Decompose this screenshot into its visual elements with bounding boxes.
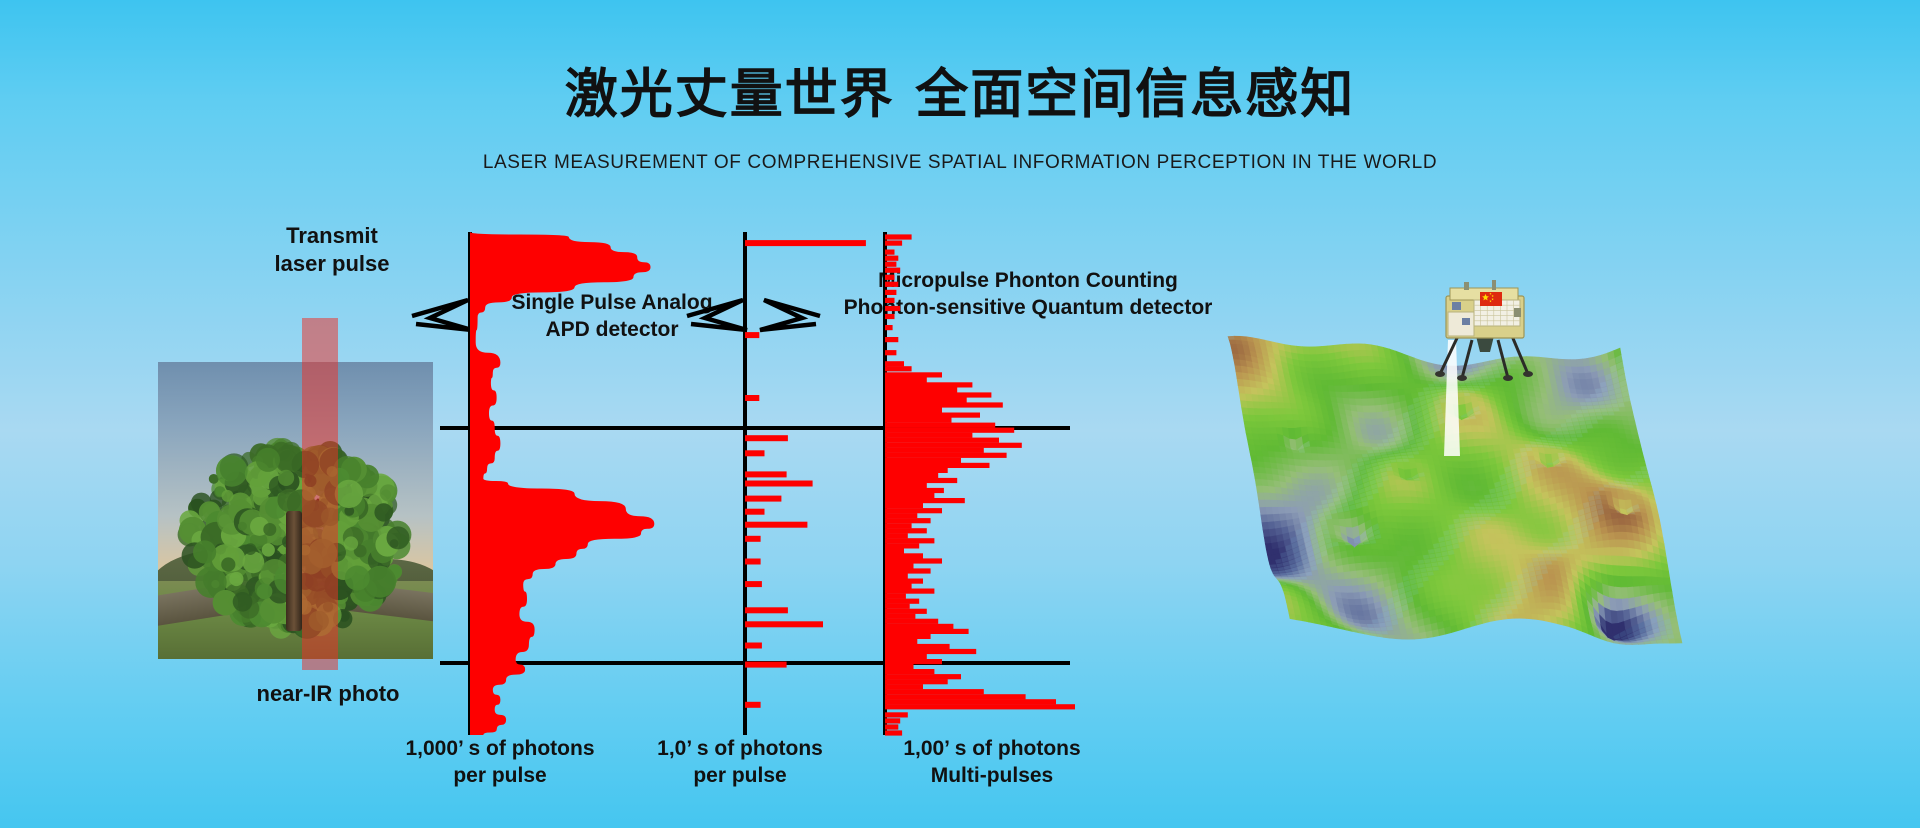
histogram-bar xyxy=(885,664,914,669)
histogram-bar xyxy=(885,387,957,392)
caption-2-line2: per pulse xyxy=(625,762,855,789)
histogram-bar xyxy=(885,614,915,619)
histogram-bar xyxy=(885,649,976,654)
histogram-bar xyxy=(885,518,931,523)
histogram-bar xyxy=(885,513,917,518)
photo-tree-trunk xyxy=(286,511,302,631)
histogram-bar xyxy=(885,361,904,366)
histogram-bar xyxy=(885,402,1003,407)
reference-line-ground xyxy=(440,661,1070,665)
lander-leg xyxy=(1512,336,1528,374)
histogram-bar xyxy=(885,543,919,548)
histogram-bar xyxy=(885,568,931,573)
lander-foot xyxy=(1523,371,1533,377)
histogram-bar xyxy=(745,522,807,528)
lander-instrument xyxy=(1514,308,1521,317)
histogram-bar xyxy=(885,468,948,473)
terrain-cell xyxy=(1638,457,1645,462)
histogram-bar xyxy=(885,397,967,402)
histogram-bar xyxy=(885,679,948,684)
histogram-bar xyxy=(885,350,896,355)
terrain-cell xyxy=(1636,453,1643,458)
histogram-bar xyxy=(885,463,990,468)
terrain-cell xyxy=(1665,585,1672,592)
histogram-bar xyxy=(885,639,917,644)
histogram-bar xyxy=(885,413,980,418)
histogram-bar xyxy=(745,481,813,487)
histogram-bar xyxy=(885,629,969,634)
histogram-bar xyxy=(745,395,759,401)
histogram-bar xyxy=(885,262,896,267)
histogram-bar xyxy=(885,619,938,624)
lander-foot xyxy=(1457,375,1467,381)
panel-3-title: Micropulse Phonton Counting Phonton-sens… xyxy=(818,268,1238,322)
page-subtitle: LASER MEASUREMENT OF COMPREHENSIVE SPATI… xyxy=(0,152,1920,174)
terrain-cell xyxy=(1627,416,1634,421)
histogram-bar xyxy=(885,674,961,679)
histogram-bar xyxy=(745,496,781,502)
terrain-cell xyxy=(1628,420,1635,425)
poster-stage: 激光丈量世界 全面空间信息感知 LASER MEASUREMENT OF COM… xyxy=(0,0,1920,828)
histogram-bar xyxy=(885,498,965,503)
histogram-bar xyxy=(885,548,904,553)
histogram-bar xyxy=(745,607,788,613)
histogram-bar xyxy=(885,337,898,342)
lander-leg xyxy=(1462,340,1472,378)
histogram-bar xyxy=(885,654,927,659)
reference-line-canopy-top xyxy=(440,426,1070,430)
lander-antenna xyxy=(1464,282,1469,290)
histogram-bar xyxy=(885,594,906,599)
terrain-cell xyxy=(1634,444,1641,449)
caption-3-line1: 1,00’ s of photons xyxy=(872,735,1112,762)
histogram-bar xyxy=(885,458,961,463)
caption-1: 1,000’ s of photons per pulse xyxy=(340,735,660,790)
histogram-bar xyxy=(885,478,957,483)
histogram-bar xyxy=(885,408,942,413)
histogram-bar xyxy=(885,538,934,543)
histogram-bar xyxy=(885,256,898,261)
histogram-bar xyxy=(745,450,765,456)
histogram-bar xyxy=(885,624,953,629)
histogram-bar xyxy=(885,609,927,614)
histogram-bar xyxy=(885,604,910,609)
histogram-bar xyxy=(885,553,923,558)
histogram-bar xyxy=(745,536,761,542)
histogram-bar xyxy=(885,234,912,239)
terrain-cell xyxy=(1644,483,1651,487)
lander-foot xyxy=(1503,375,1513,381)
laser-beam-overlay xyxy=(302,318,338,670)
caption-2: 1,0’ s of photons per pulse xyxy=(625,735,855,790)
lander-leg xyxy=(1440,336,1458,374)
histogram-bar xyxy=(885,533,908,538)
histogram-bar xyxy=(885,382,972,387)
terrain-cell xyxy=(1666,591,1673,599)
caption-1-line2: per pulse xyxy=(340,762,660,789)
histogram-bar xyxy=(745,702,761,708)
histogram-bar xyxy=(885,508,942,513)
transmit-label-line2: laser pulse xyxy=(232,250,432,278)
histogram-bar xyxy=(885,528,927,533)
histogram-bar xyxy=(885,488,944,493)
histogram-bar xyxy=(885,428,1014,433)
histogram-bar xyxy=(885,443,1022,448)
histogram-bar xyxy=(885,694,1026,699)
histogram-bar xyxy=(885,377,927,382)
histogram-bar xyxy=(885,699,1056,704)
histogram-bar xyxy=(745,643,762,649)
lander-instrument xyxy=(1462,318,1470,325)
terrain-cell xyxy=(1626,411,1633,416)
histogram-bar xyxy=(885,241,902,246)
terrain-cell xyxy=(1663,577,1670,584)
near-ir-photo-label: near-IR photo xyxy=(218,680,438,708)
histogram-bar xyxy=(885,579,923,584)
histogram-bar xyxy=(885,503,923,508)
terrain-cell xyxy=(1642,474,1649,478)
histogram-bar xyxy=(885,418,952,423)
transmit-label-line1: Transmit xyxy=(232,222,432,250)
transmit-laser-pulse-label: Transmit laser pulse xyxy=(232,222,432,278)
histogram-bar xyxy=(885,473,938,478)
terrain-cell xyxy=(1643,479,1650,483)
histogram-bar xyxy=(745,240,866,246)
terrain-cell xyxy=(1639,462,1646,467)
lander-antenna xyxy=(1492,280,1496,290)
histogram-bar xyxy=(885,718,900,723)
terrain-cell xyxy=(1635,448,1642,453)
histogram-bar xyxy=(745,559,761,565)
histogram-bar xyxy=(885,574,908,579)
histogram-bar xyxy=(885,433,972,438)
histogram-bar xyxy=(885,704,1075,709)
histogram-bar xyxy=(745,509,765,515)
histogram-bar xyxy=(745,662,787,668)
lunar-lander-model xyxy=(1428,278,1540,388)
histogram-bar xyxy=(885,599,919,604)
terrain-cell xyxy=(1667,598,1674,606)
histogram-bar xyxy=(885,325,893,330)
histogram-bar xyxy=(745,435,788,441)
histogram-bar xyxy=(885,589,934,594)
histogram-bar xyxy=(885,453,1007,458)
panel-1-title-line1: Single Pulse Analog xyxy=(462,290,762,317)
panel-1-title: Single Pulse Analog APD detector xyxy=(462,290,762,344)
axis-break-symbol xyxy=(760,300,820,330)
histogram-bar xyxy=(885,724,898,729)
histogram-bar xyxy=(885,392,991,397)
near-ir-tree-photo xyxy=(158,362,433,659)
histogram-bar xyxy=(885,684,923,689)
histogram-bar xyxy=(885,634,931,639)
lander-instrument xyxy=(1452,302,1461,310)
panel-3-title-line2: Phonton-sensitive Quantum detector xyxy=(818,295,1238,322)
histogram-bar xyxy=(885,483,927,488)
caption-1-line1: 1,000’ s of photons xyxy=(340,735,660,762)
caption-2-line1: 1,0’ s of photons xyxy=(625,735,855,762)
lander-foot xyxy=(1435,371,1445,377)
panel-1-title-line2: APD detector xyxy=(462,317,762,344)
histogram-bar xyxy=(885,366,912,371)
histogram-bar xyxy=(885,493,934,498)
histogram-bar xyxy=(885,644,950,649)
histogram-bar xyxy=(885,563,914,568)
panel-3-title-line1: Micropulse Phonton Counting xyxy=(818,268,1238,295)
histogram-bar xyxy=(745,621,823,627)
caption-3: 1,00’ s of photons Multi-pulses xyxy=(872,735,1112,790)
histogram-bar xyxy=(885,558,942,563)
histogram-bar xyxy=(885,423,995,428)
caption-3-line2: Multi-pulses xyxy=(872,762,1112,789)
lidar-dem-terrain xyxy=(1190,330,1700,720)
histogram-bar xyxy=(885,689,984,694)
page-title: 激光丈量世界 全面空间信息感知 xyxy=(0,52,1920,128)
histogram-bar xyxy=(885,250,895,255)
histogram-bar xyxy=(885,712,908,717)
histogram-bar xyxy=(745,471,787,477)
histogram-bar xyxy=(885,659,942,664)
histogram-bar xyxy=(885,584,912,589)
histogram-bar xyxy=(885,669,934,674)
terrain-cell xyxy=(1641,470,1648,475)
lander-panel-left xyxy=(1448,312,1474,336)
histogram-bar xyxy=(885,448,984,453)
histogram-bar xyxy=(885,523,912,528)
histogram-bar xyxy=(885,372,942,377)
histogram-bar xyxy=(745,581,762,587)
histogram-bar xyxy=(885,438,999,443)
lander-leg xyxy=(1498,340,1508,378)
